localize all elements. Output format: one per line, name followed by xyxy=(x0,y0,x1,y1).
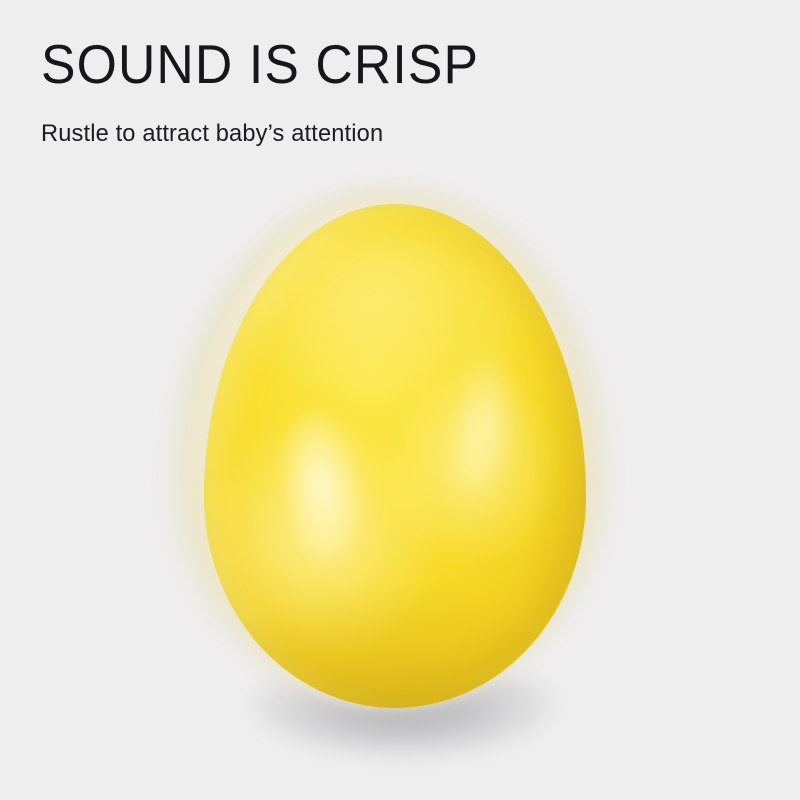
headline-text: SOUND IS CRISP xyxy=(41,34,479,94)
subheadline-text: Rustle to attract baby’s attention xyxy=(41,119,383,149)
product-feature-banner: SOUND IS CRISP Rustle to attract baby’s … xyxy=(0,0,800,800)
